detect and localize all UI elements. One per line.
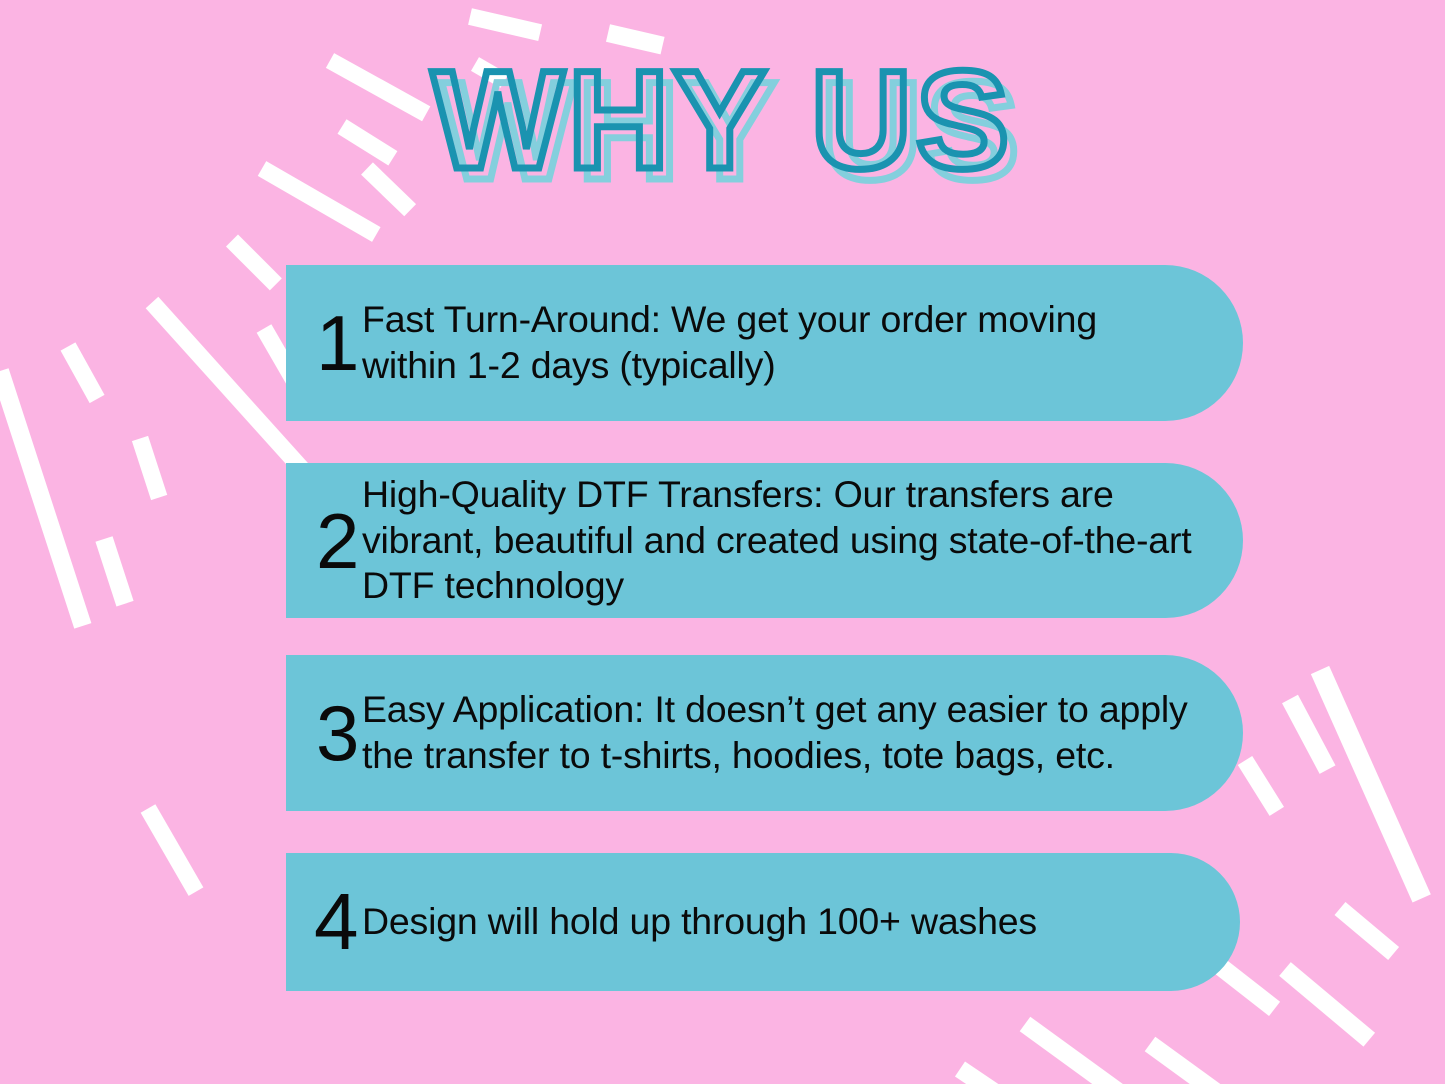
decorative-dash <box>468 8 542 41</box>
decorative-dash <box>1238 756 1284 816</box>
list-item-text: Design will hold up through 100+ washes <box>362 899 1240 945</box>
list-item-number: 3 <box>286 694 362 772</box>
list-item-number: 4 <box>286 882 362 962</box>
decorative-dash <box>1311 666 1431 903</box>
list-item-number: 2 <box>286 502 362 580</box>
decorative-dash <box>955 1062 1040 1084</box>
decorative-dash <box>1282 695 1335 774</box>
list-item-text: Fast Turn-Around: We get your order movi… <box>362 297 1243 389</box>
decorative-dash <box>61 342 105 403</box>
decorative-dash <box>0 368 91 628</box>
decorative-dash <box>1279 962 1375 1046</box>
list-item: 4 Design will hold up through 100+ washe… <box>286 853 1240 991</box>
poster-canvas: WHY US WHY US 1 Fast Turn-Around: We get… <box>0 0 1445 1084</box>
decorative-dash <box>141 804 204 896</box>
decorative-dash <box>132 436 167 500</box>
list-item: 1 Fast Turn-Around: We get your order mo… <box>286 265 1243 421</box>
list-item: 3 Easy Application: It doesn’t get any e… <box>286 655 1243 811</box>
title-outline-text: WHY US <box>432 41 1013 198</box>
decorative-dash <box>1145 1037 1277 1084</box>
list-item-text: High-Quality DTF Transfers: Our transfer… <box>362 472 1243 609</box>
decorative-dash <box>1020 1017 1128 1084</box>
decorative-dash <box>95 536 133 606</box>
list-item-text: Easy Application: It doesn’t get any eas… <box>362 687 1243 779</box>
decorative-dash <box>1335 902 1400 960</box>
decorative-dash <box>226 234 282 290</box>
title-stack: WHY US WHY US <box>432 46 1013 193</box>
page-title: WHY US WHY US <box>0 46 1445 193</box>
list-item-number: 1 <box>286 304 362 382</box>
list-item: 2 High-Quality DTF Transfers: Our transf… <box>286 463 1243 618</box>
